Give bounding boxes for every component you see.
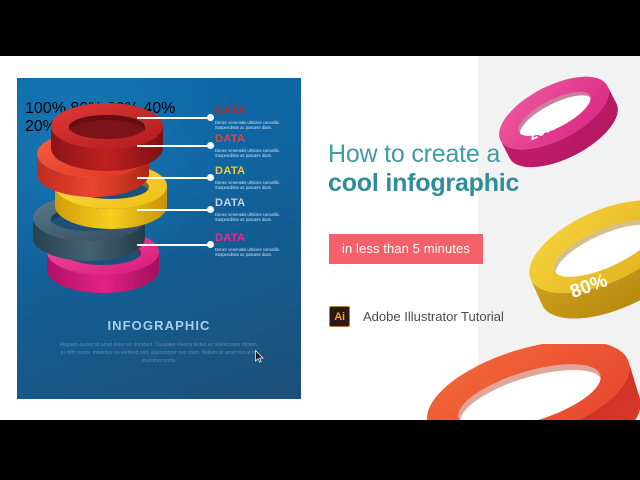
letterbox-top [0, 0, 640, 56]
data-block-title: DATA [215, 198, 301, 209]
data-block-body: Donec venenatis ultricies convallis. Sus… [215, 120, 301, 131]
data-block-title: DATA [215, 106, 301, 117]
adobe-illustrator-icon: Ai [329, 306, 350, 327]
data-block-4: DATA Donec venenatis ultricies convallis… [215, 198, 301, 223]
poster-description: Aliquam auctor sit amet dolor vel tincid… [59, 341, 259, 365]
data-block-body: Donec venenatis ultricies convallis. Sus… [215, 212, 301, 223]
mouse-cursor-icon [255, 350, 264, 363]
video-frame: 20% 80% [0, 56, 640, 420]
headline-line-2: cool infographic [328, 169, 568, 198]
decor-ring-yellow-svg [522, 184, 640, 334]
leader-line-stroke [137, 244, 209, 246]
leader-line-stroke [137, 117, 209, 119]
leader-line-stroke [137, 177, 209, 179]
data-block-title: DATA [215, 166, 301, 177]
leader-line-dot [207, 114, 214, 121]
data-block-2: DATA Donec venenatis ultricies convallis… [215, 134, 301, 159]
leader-line-dot [207, 142, 214, 149]
data-block-5: DATA Donec venenatis ultricies convallis… [215, 233, 301, 258]
credit-text: Adobe Illustrator Tutorial [363, 309, 504, 324]
decor-ring-red-svg [418, 344, 640, 420]
infographic-poster: 100% 80% 60% 40% 20% [17, 78, 301, 399]
data-block-body: Donec venenatis ultricies convallis. Sus… [215, 247, 301, 258]
data-block-1: DATA Donec venenatis ultricies convallis… [215, 106, 301, 131]
data-block-title: DATA [215, 233, 301, 244]
data-block-body: Donec venenatis ultricies convallis. Sus… [215, 180, 301, 191]
poster-title: INFOGRAPHIC [17, 318, 301, 333]
leader-line-dot [207, 241, 214, 248]
leader-line-dot [207, 174, 214, 181]
promo-headline: How to create a cool infographic [328, 140, 568, 198]
data-block-body: Donec venenatis ultricies convallis. Sus… [215, 148, 301, 159]
letterbox-bottom [0, 420, 640, 480]
data-block-3: DATA Donec venenatis ultricies convallis… [215, 166, 301, 191]
decor-ring-yellow: 80% [522, 184, 640, 334]
credit-row: Ai Adobe Illustrator Tutorial [329, 306, 504, 327]
data-block-title: DATA [215, 134, 301, 145]
decor-ring-red [418, 344, 640, 420]
leader-line-stroke [137, 209, 209, 211]
headline-line-1: How to create a [328, 140, 568, 169]
screenshot-stage: 20% 80% [0, 0, 640, 480]
promo-badge: in less than 5 minutes [329, 234, 483, 264]
leader-line-dot [207, 206, 214, 213]
leader-line-stroke [137, 145, 209, 147]
